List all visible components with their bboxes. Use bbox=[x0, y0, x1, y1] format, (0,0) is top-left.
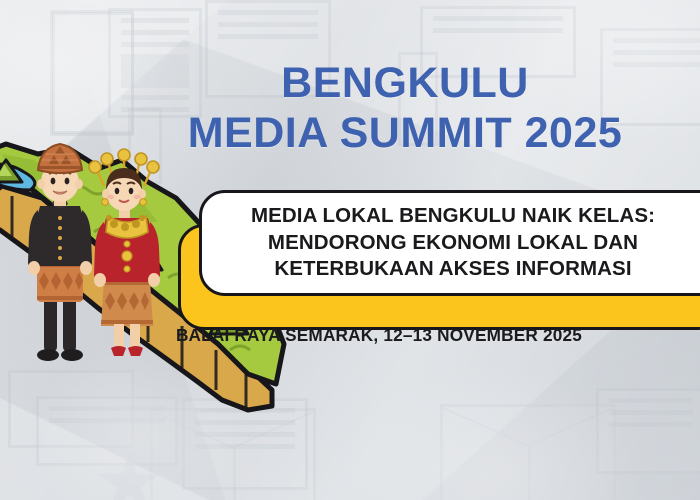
theme-line-3: KETERBUKAAN AKSES INFORMASI bbox=[222, 256, 684, 283]
page-title: BENGKULU MEDIA SUMMIT 2025 bbox=[120, 58, 690, 158]
theme-line-1: MEDIA LOKAL BENGKULU NAIK KELAS: bbox=[222, 203, 684, 230]
theme-card: MEDIA LOKAL BENGKULU NAIK KELAS: MENDORO… bbox=[199, 190, 700, 296]
venue-and-date: BALAI RAYA SEMARAK, 12–13 NOVEMBER 2025 bbox=[0, 325, 700, 346]
theme-line-2: MENDORONG EKONOMI LOKAL DAN bbox=[222, 230, 684, 257]
headline-line-1: BENGKULU bbox=[120, 58, 690, 108]
event-banner: BENGKULU MEDIA SUMMIT 2025 MEDIA LOKAL B… bbox=[0, 0, 700, 500]
theme-card-text: MEDIA LOKAL BENGKULU NAIK KELAS: MENDORO… bbox=[222, 203, 700, 283]
headline-line-2: MEDIA SUMMIT 2025 bbox=[120, 108, 690, 158]
